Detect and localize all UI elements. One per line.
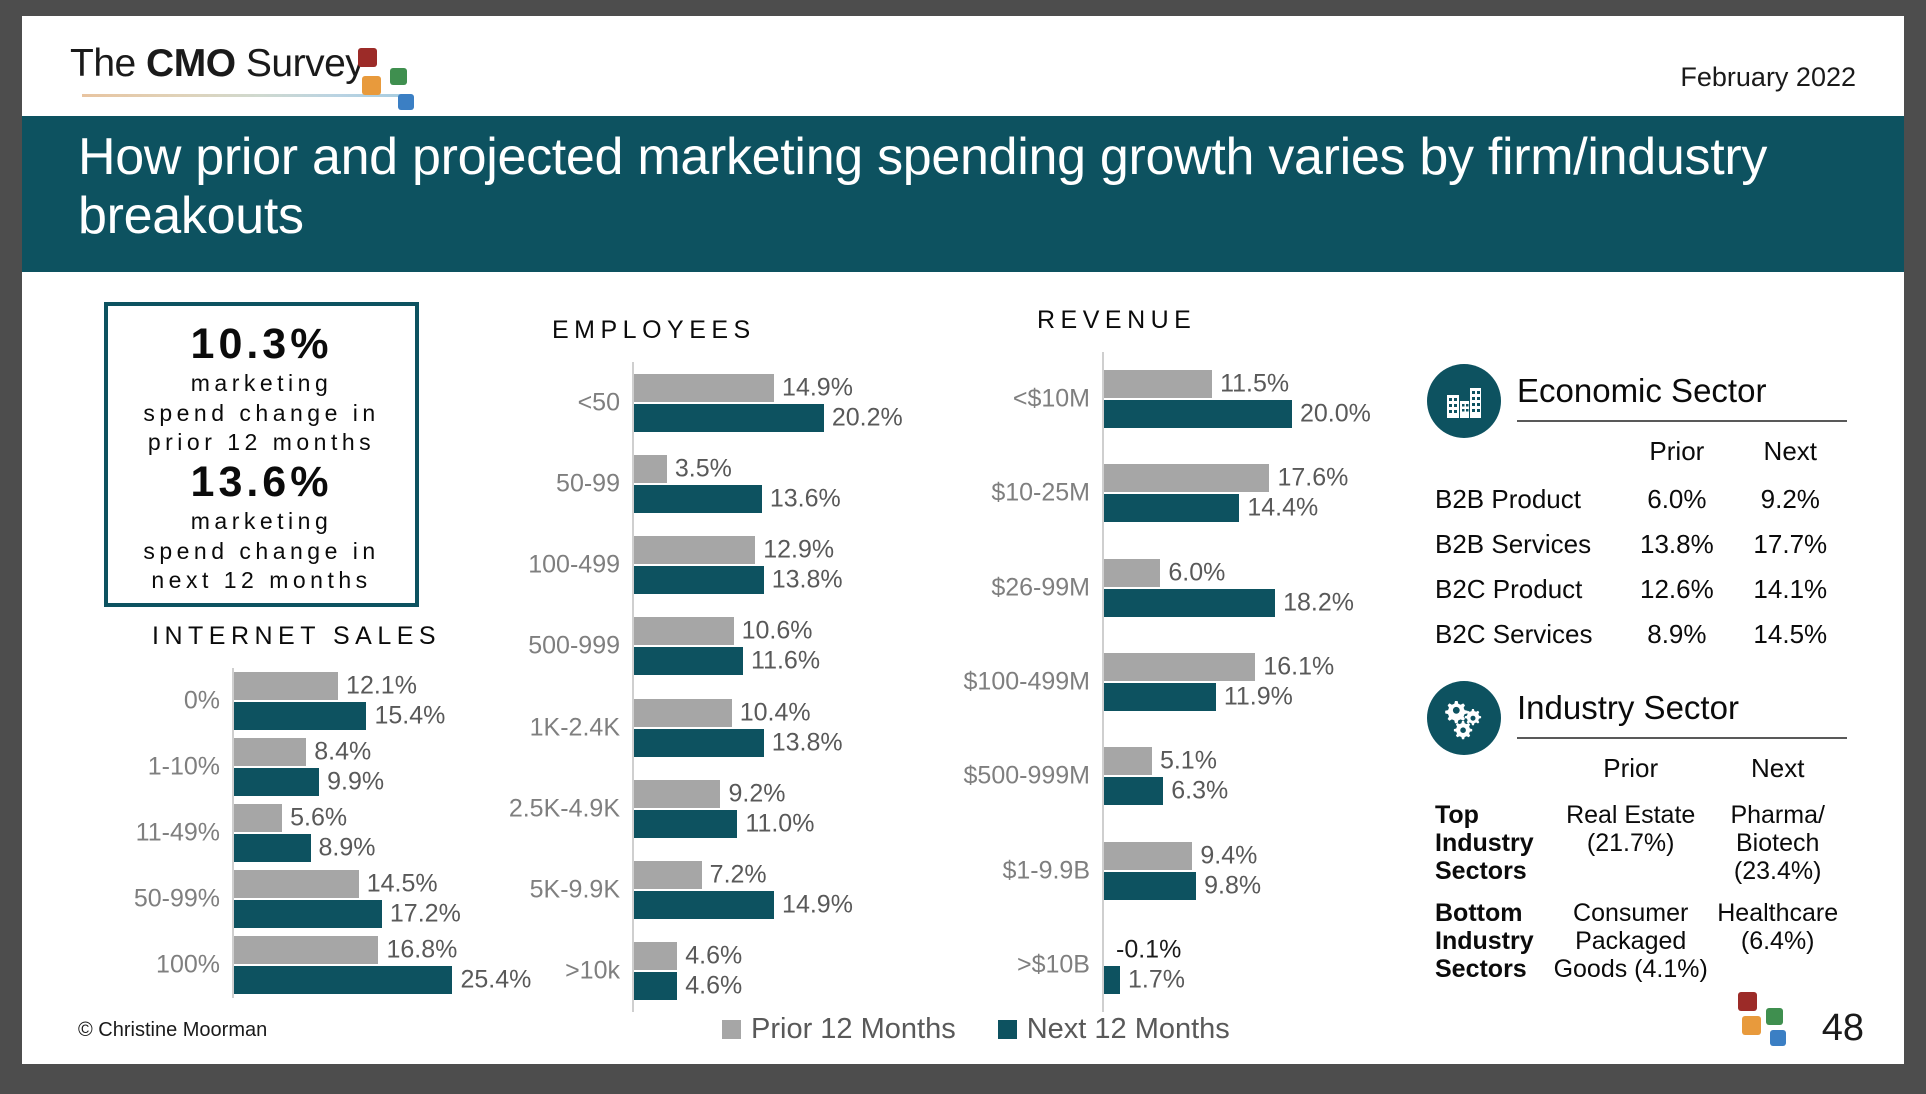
slide-header: The CMO Survey® February 2022 (22, 16, 1904, 116)
stat-prior-label-1: marketing (108, 369, 415, 398)
bar-value-label: 11.5% (1220, 370, 1289, 399)
bar-value-label: 17.6% (1277, 464, 1348, 493)
bar-next (634, 729, 764, 757)
legend-swatch-next-icon (998, 1020, 1017, 1039)
bar-value-label: 6.3% (1171, 777, 1228, 806)
table-row: B2C Product12.6%14.1% (1427, 567, 1847, 612)
bar-value-label: 9.2% (728, 779, 785, 808)
col-header-next: Next (1708, 749, 1847, 794)
chart-category-label: 50-99 (492, 469, 620, 498)
bar-prior (1104, 653, 1255, 681)
table-row: B2C Services8.9%14.5% (1427, 612, 1847, 657)
bar-next (1104, 494, 1239, 522)
chart-category-label: $100-499M (947, 668, 1090, 697)
bar-next (234, 834, 311, 862)
bar-value-label: 10.4% (740, 698, 811, 727)
economic-sector-table: Prior Next B2B Product6.0%9.2%B2B Servic… (1427, 432, 1847, 657)
bar-next (634, 972, 677, 1000)
footer-square-orange-icon (1742, 1016, 1761, 1035)
legend-item-next: Next 12 Months (998, 1013, 1230, 1046)
row-label: BottomIndustrySectors (1427, 892, 1553, 990)
cell-prior: 6.0% (1620, 477, 1733, 522)
table-row: B2B Product6.0%9.2% (1427, 477, 1847, 522)
bar-prior (1104, 747, 1152, 775)
bar-value-label: 14.9% (782, 373, 853, 402)
industry-sector-title: Industry Sector (1517, 689, 1739, 727)
row-label: B2C Services (1427, 612, 1620, 657)
table-row: B2B Services13.8%17.7% (1427, 522, 1847, 567)
bar-value-label: 14.5% (367, 870, 438, 899)
bar-prior (234, 804, 282, 832)
bar-next (634, 810, 737, 838)
bar-value-label: 1.7% (1128, 965, 1185, 994)
bar-value-label: 9.9% (327, 768, 384, 797)
page-number: 48 (1822, 1007, 1864, 1050)
chart-revenue: REVENUE<$10M11.5%20.0%$10-25M17.6%14.4%$… (947, 306, 1407, 1016)
bar-value-label: -0.1% (1116, 935, 1181, 964)
title-band: How prior and projected marketing spendi… (22, 116, 1904, 272)
footer-square-blue-icon (1770, 1030, 1786, 1046)
bar-prior (234, 738, 306, 766)
stat-prior-label-2: spend change in (108, 399, 415, 428)
cell-prior: 12.6% (1620, 567, 1733, 612)
bar-prior (234, 870, 359, 898)
footer-square-green-icon (1766, 1008, 1783, 1025)
chart-category-label: <$10M (947, 385, 1090, 414)
bar-next (634, 404, 824, 432)
bar-value-label: 4.6% (685, 972, 742, 1001)
bar-value-label: 3.5% (675, 454, 732, 483)
bar-value-label: 4.6% (685, 942, 742, 971)
stat-next-label-1: marketing (108, 507, 415, 536)
economic-sector-title: Economic Sector (1517, 372, 1766, 410)
bar-next (634, 566, 764, 594)
bar-value-label: 20.0% (1300, 400, 1371, 429)
bar-value-label: 16.8% (386, 936, 457, 965)
bar-value-label: 9.8% (1204, 871, 1261, 900)
bar-next (234, 768, 319, 796)
bar-value-label: 8.4% (314, 738, 371, 767)
bar-next (1104, 872, 1196, 900)
chart-internet-sales: INTERNET SALES0%12.1%15.4%1-10%8.4%9.9%1… (82, 622, 502, 1002)
bar-value-label: 14.9% (782, 891, 853, 920)
logo-square-red-icon (358, 48, 377, 67)
bar-value-label: 12.9% (763, 536, 834, 565)
chart-category-label: >$10B (947, 950, 1090, 979)
bar-prior (1104, 842, 1192, 870)
buildings-icon (1427, 364, 1501, 438)
cell-next: Pharma/Biotech(23.4%) (1708, 794, 1847, 892)
cell-next: 14.5% (1734, 612, 1847, 657)
cell-next: 17.7% (1734, 522, 1847, 567)
bar-value-label: 15.4% (374, 702, 445, 731)
stat-prior-label-3: prior 12 months (108, 428, 415, 457)
bar-prior (234, 672, 338, 700)
logo-square-orange-icon (362, 76, 381, 95)
cell-next: Healthcare(6.4%) (1708, 892, 1847, 990)
logo-underline-rule (82, 94, 404, 97)
bar-prior (634, 617, 734, 645)
bar-next (1104, 966, 1120, 994)
logo-cmo: CMO (146, 42, 236, 85)
bar-prior (1104, 559, 1160, 587)
chart-legend: Prior 12 Months Next 12 Months (722, 1013, 1230, 1046)
table-row: BottomIndustrySectorsConsumerPackagedGoo… (1427, 892, 1847, 990)
bar-next (1104, 589, 1275, 617)
bar-prior (1104, 370, 1212, 398)
bar-value-label: 17.2% (390, 900, 461, 929)
legend-swatch-prior-icon (722, 1020, 741, 1039)
bar-prior (634, 780, 720, 808)
bar-value-label: 5.6% (290, 804, 347, 833)
chart-category-label: $500-999M (947, 762, 1090, 791)
cell-prior: ConsumerPackagedGoods (4.1%) (1553, 892, 1708, 990)
chart-category-label: >10k (492, 957, 620, 986)
slide: The CMO Survey® February 2022 How prior … (22, 16, 1904, 1064)
legend-item-prior: Prior 12 Months (722, 1013, 956, 1046)
chart-employees: EMPLOYEES<5014.9%20.2%50-993.5%13.6%100-… (492, 316, 952, 1016)
cmo-survey-logo: The CMO Survey® (70, 42, 430, 100)
bar-value-label: 6.0% (1168, 558, 1225, 587)
bar-next (634, 891, 774, 919)
logo-square-blue-icon (398, 94, 414, 110)
bar-value-label: 16.1% (1263, 653, 1334, 682)
stat-next-label-3: next 12 months (108, 566, 415, 595)
industry-sector-table: Prior Next TopIndustrySectorsReal Estate… (1427, 749, 1847, 990)
bar-value-label: 13.6% (770, 484, 841, 513)
bar-prior (1104, 464, 1269, 492)
chart-category-label: <50 (492, 388, 620, 417)
bar-value-label: 10.6% (742, 617, 813, 646)
bar-value-label: 11.0% (745, 809, 814, 838)
bar-prior (634, 455, 667, 483)
row-label: B2B Services (1427, 522, 1620, 567)
bar-next (634, 647, 743, 675)
bar-prior (634, 374, 774, 402)
bar-value-label: 14.4% (1247, 494, 1318, 523)
bar-value-label: 5.1% (1160, 747, 1217, 776)
bar-prior (634, 536, 755, 564)
bar-value-label: 13.8% (772, 566, 843, 595)
chart-category-label: 50-99% (82, 885, 220, 914)
legend-label-next: Next 12 Months (1027, 1013, 1230, 1046)
bar-next (634, 485, 762, 513)
chart-category-label: 100-499 (492, 551, 620, 580)
legend-label-prior: Prior 12 Months (751, 1013, 956, 1046)
chart-category-label: $10-25M (947, 479, 1090, 508)
slide-title: How prior and projected marketing spendi… (78, 128, 1864, 247)
bar-prior (634, 861, 702, 889)
footer-logo-squares (1732, 990, 1794, 1046)
chart-category-label: 5K-9.9K (492, 876, 620, 905)
row-label: B2C Product (1427, 567, 1620, 612)
bar-next (1104, 683, 1216, 711)
col-header-prior: Prior (1620, 432, 1733, 477)
bar-value-label: 20.2% (832, 403, 903, 432)
bar-value-label: 8.9% (319, 834, 376, 863)
chart-category-label: 0% (82, 687, 220, 716)
chart-axis-line (1102, 352, 1104, 1012)
chart-category-label: $1-9.9B (947, 856, 1090, 885)
bar-value-label: 12.1% (346, 672, 417, 701)
bar-value-label: 9.4% (1200, 841, 1257, 870)
bar-prior (634, 942, 677, 970)
survey-date: February 2022 (1680, 62, 1856, 93)
bar-value-label: 13.8% (772, 728, 843, 757)
stat-next-label-2: spend change in (108, 537, 415, 566)
stat-next-value: 13.6% (108, 458, 415, 507)
chart-category-label: 100% (82, 951, 220, 980)
bar-value-label: 7.2% (710, 861, 767, 890)
bar-next (234, 966, 452, 994)
col-header-prior: Prior (1553, 749, 1708, 794)
row-label: TopIndustrySectors (1427, 794, 1553, 892)
table-header-row: Prior Next (1427, 432, 1847, 477)
logo-survey: Survey (236, 42, 365, 85)
gears-icon (1427, 681, 1501, 755)
cell-prior: Real Estate(21.7%) (1553, 794, 1708, 892)
cell-next: 9.2% (1734, 477, 1847, 522)
stat-prior-value: 10.3% (108, 320, 415, 369)
cell-next: 14.1% (1734, 567, 1847, 612)
economic-sector-rule (1517, 420, 1847, 422)
industry-sector-rule (1517, 737, 1847, 739)
chart-category-label: 11-49% (82, 819, 220, 848)
chart-title: INTERNET SALES (152, 622, 441, 651)
col-header-next: Next (1734, 432, 1847, 477)
bar-prior (234, 936, 378, 964)
row-label: B2B Product (1427, 477, 1620, 522)
cell-prior: 13.8% (1620, 522, 1733, 567)
logo-square-green-icon (390, 68, 407, 85)
cell-prior: 8.9% (1620, 612, 1733, 657)
chart-category-label: 1-10% (82, 753, 220, 782)
bar-value-label: 18.2% (1283, 588, 1354, 617)
bar-next (1104, 777, 1163, 805)
bar-next (234, 702, 366, 730)
bar-value-label: 11.9% (1224, 683, 1293, 712)
footer-square-red-icon (1738, 992, 1757, 1011)
bar-value-label: 11.6% (751, 647, 820, 676)
table-header-row: Prior Next (1427, 749, 1847, 794)
chart-title: EMPLOYEES (552, 316, 756, 345)
headline-stat-box: 10.3% marketing spend change in prior 12… (104, 302, 419, 607)
table-row: TopIndustrySectorsReal Estate(21.7%)Phar… (1427, 794, 1847, 892)
logo-the: The (70, 42, 146, 85)
chart-category-label: 2.5K-4.9K (492, 794, 620, 823)
chart-category-label: 1K-2.4K (492, 713, 620, 742)
bar-prior (634, 699, 732, 727)
chart-title: REVENUE (1037, 306, 1196, 335)
chart-category-label: 500-999 (492, 632, 620, 661)
chart-category-label: $26-99M (947, 573, 1090, 602)
bar-next (1104, 400, 1292, 428)
bar-next (234, 900, 382, 928)
copyright-notice: © Christine Moorman (78, 1019, 267, 1042)
